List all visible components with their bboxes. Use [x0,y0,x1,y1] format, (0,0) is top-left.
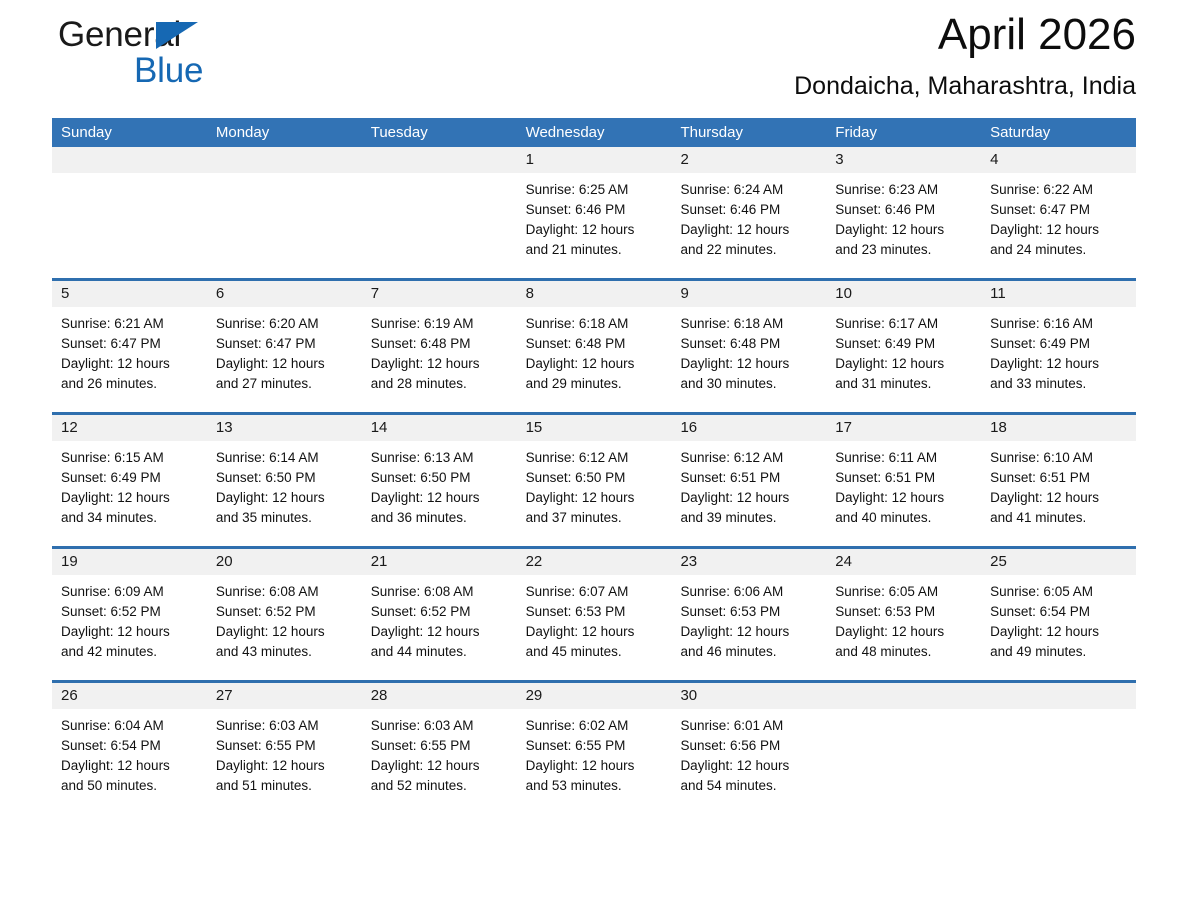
sunrise-line: Sunrise: 6:17 AM [835,314,972,334]
day-details: Sunrise: 6:21 AMSunset: 6:47 PMDaylight:… [52,307,207,394]
sunrise-line: Sunrise: 6:12 AM [680,448,817,468]
daylight-line-1: Daylight: 12 hours [990,622,1127,642]
day-cell-22[interactable]: 22Sunrise: 6:07 AMSunset: 6:53 PMDayligh… [517,549,672,680]
daylight-line-2: and 35 minutes. [216,508,353,528]
sunset-line: Sunset: 6:47 PM [990,200,1127,220]
sunrise-line: Sunrise: 6:15 AM [61,448,198,468]
day-details: Sunrise: 6:25 AMSunset: 6:46 PMDaylight:… [517,173,672,260]
day-cell-19[interactable]: 19Sunrise: 6:09 AMSunset: 6:52 PMDayligh… [52,549,207,680]
sunset-line: Sunset: 6:48 PM [371,334,508,354]
day-cell-25[interactable]: 25Sunrise: 6:05 AMSunset: 6:54 PMDayligh… [981,549,1136,680]
sunset-line: Sunset: 6:47 PM [61,334,198,354]
sunrise-line: Sunrise: 6:05 AM [990,582,1127,602]
day-cell-23[interactable]: 23Sunrise: 6:06 AMSunset: 6:53 PMDayligh… [671,549,826,680]
sunset-line: Sunset: 6:46 PM [680,200,817,220]
sunrise-line: Sunrise: 6:16 AM [990,314,1127,334]
daylight-line-1: Daylight: 12 hours [371,354,508,374]
day-number: 11 [981,281,1136,307]
day-details: Sunrise: 6:20 AMSunset: 6:47 PMDaylight:… [207,307,362,394]
sunrise-line: Sunrise: 6:18 AM [680,314,817,334]
daylight-line-2: and 43 minutes. [216,642,353,662]
daylight-line-2: and 46 minutes. [680,642,817,662]
logo-text-blue: Blue [134,52,318,90]
day-details: Sunrise: 6:07 AMSunset: 6:53 PMDaylight:… [517,575,672,662]
weekday-header-sunday: Sunday [52,118,207,147]
day-number: 30 [671,683,826,709]
sunset-line: Sunset: 6:48 PM [526,334,663,354]
day-number: 21 [362,549,517,575]
daylight-line-1: Daylight: 12 hours [680,354,817,374]
calendar-week-row: 5Sunrise: 6:21 AMSunset: 6:47 PMDaylight… [52,278,1136,412]
sunset-line: Sunset: 6:49 PM [61,468,198,488]
day-number [52,147,207,173]
day-cell-11[interactable]: 11Sunrise: 6:16 AMSunset: 6:49 PMDayligh… [981,281,1136,412]
sunrise-line: Sunrise: 6:21 AM [61,314,198,334]
daylight-line-1: Daylight: 12 hours [216,622,353,642]
daylight-line-1: Daylight: 12 hours [526,488,663,508]
daylight-line-1: Daylight: 12 hours [680,220,817,240]
daylight-line-1: Daylight: 12 hours [990,488,1127,508]
sunrise-line: Sunrise: 6:03 AM [216,716,353,736]
sunset-line: Sunset: 6:52 PM [371,602,508,622]
day-details: Sunrise: 6:02 AMSunset: 6:55 PMDaylight:… [517,709,672,796]
day-cell-4[interactable]: 4Sunrise: 6:22 AMSunset: 6:47 PMDaylight… [981,147,1136,278]
sunrise-line: Sunrise: 6:18 AM [526,314,663,334]
sunrise-line: Sunrise: 6:04 AM [61,716,198,736]
day-number: 23 [671,549,826,575]
day-details: Sunrise: 6:18 AMSunset: 6:48 PMDaylight:… [671,307,826,394]
daylight-line-2: and 22 minutes. [680,240,817,260]
calendar-week-row: 12Sunrise: 6:15 AMSunset: 6:49 PMDayligh… [52,412,1136,546]
sunrise-line: Sunrise: 6:09 AM [61,582,198,602]
day-details: Sunrise: 6:14 AMSunset: 6:50 PMDaylight:… [207,441,362,528]
day-details: Sunrise: 6:19 AMSunset: 6:48 PMDaylight:… [362,307,517,394]
sunset-line: Sunset: 6:52 PM [61,602,198,622]
day-number: 7 [362,281,517,307]
daylight-line-1: Daylight: 12 hours [216,354,353,374]
day-details: Sunrise: 6:16 AMSunset: 6:49 PMDaylight:… [981,307,1136,394]
calendar-week-row: 19Sunrise: 6:09 AMSunset: 6:52 PMDayligh… [52,546,1136,680]
weekday-header-tuesday: Tuesday [362,118,517,147]
day-number: 2 [671,147,826,173]
day-cell-17[interactable]: 17Sunrise: 6:11 AMSunset: 6:51 PMDayligh… [826,415,981,546]
daylight-line-2: and 52 minutes. [371,776,508,796]
day-number: 20 [207,549,362,575]
daylight-line-2: and 51 minutes. [216,776,353,796]
daylight-line-2: and 29 minutes. [526,374,663,394]
sunrise-line: Sunrise: 6:24 AM [680,180,817,200]
day-cell-30[interactable]: 30Sunrise: 6:01 AMSunset: 6:56 PMDayligh… [671,683,826,814]
day-details: Sunrise: 6:06 AMSunset: 6:53 PMDaylight:… [671,575,826,662]
day-number: 10 [826,281,981,307]
daylight-line-2: and 54 minutes. [680,776,817,796]
day-number: 17 [826,415,981,441]
sunrise-line: Sunrise: 6:03 AM [371,716,508,736]
day-number: 5 [52,281,207,307]
day-cell-16[interactable]: 16Sunrise: 6:12 AMSunset: 6:51 PMDayligh… [671,415,826,546]
day-details: Sunrise: 6:12 AMSunset: 6:50 PMDaylight:… [517,441,672,528]
day-cell-3[interactable]: 3Sunrise: 6:23 AMSunset: 6:46 PMDaylight… [826,147,981,278]
day-number [207,147,362,173]
daylight-line-1: Daylight: 12 hours [526,756,663,776]
daylight-line-1: Daylight: 12 hours [61,354,198,374]
sunrise-line: Sunrise: 6:14 AM [216,448,353,468]
sunrise-line: Sunrise: 6:08 AM [371,582,508,602]
day-number: 16 [671,415,826,441]
daylight-line-1: Daylight: 12 hours [835,622,972,642]
sunset-line: Sunset: 6:55 PM [216,736,353,756]
sunset-line: Sunset: 6:46 PM [835,200,972,220]
day-number: 22 [517,549,672,575]
day-details [362,173,517,180]
day-cell-6[interactable]: 6Sunrise: 6:20 AMSunset: 6:47 PMDaylight… [207,281,362,412]
day-number: 15 [517,415,672,441]
day-details: Sunrise: 6:23 AMSunset: 6:46 PMDaylight:… [826,173,981,260]
day-details: Sunrise: 6:15 AMSunset: 6:49 PMDaylight:… [52,441,207,528]
day-details [981,709,1136,716]
calendar-page: General Blue April 2026 Dondaicha, Mahar… [0,0,1188,918]
daylight-line-1: Daylight: 12 hours [216,488,353,508]
sunset-line: Sunset: 6:53 PM [680,602,817,622]
day-number: 28 [362,683,517,709]
weekday-header-row: SundayMondayTuesdayWednesdayThursdayFrid… [52,118,1136,147]
day-cell-15[interactable]: 15Sunrise: 6:12 AMSunset: 6:50 PMDayligh… [517,415,672,546]
daylight-line-1: Daylight: 12 hours [526,354,663,374]
day-number: 9 [671,281,826,307]
location-subtitle: Dondaicha, Maharashtra, India [794,70,1136,102]
day-details: Sunrise: 6:12 AMSunset: 6:51 PMDaylight:… [671,441,826,528]
weekday-header-friday: Friday [826,118,981,147]
sunset-line: Sunset: 6:53 PM [526,602,663,622]
sunset-line: Sunset: 6:47 PM [216,334,353,354]
day-number: 13 [207,415,362,441]
day-details: Sunrise: 6:08 AMSunset: 6:52 PMDaylight:… [207,575,362,662]
day-number: 3 [826,147,981,173]
daylight-line-2: and 53 minutes. [526,776,663,796]
day-cell-29[interactable]: 29Sunrise: 6:02 AMSunset: 6:55 PMDayligh… [517,683,672,814]
day-number: 26 [52,683,207,709]
generalblue-logo[interactable]: General Blue [58,16,318,106]
daylight-line-1: Daylight: 12 hours [371,756,508,776]
daylight-line-2: and 42 minutes. [61,642,198,662]
daylight-line-1: Daylight: 12 hours [371,622,508,642]
sunset-line: Sunset: 6:54 PM [990,602,1127,622]
sunrise-line: Sunrise: 6:23 AM [835,180,972,200]
sunset-line: Sunset: 6:51 PM [835,468,972,488]
daylight-line-2: and 30 minutes. [680,374,817,394]
sunrise-line: Sunrise: 6:25 AM [526,180,663,200]
day-details: Sunrise: 6:24 AMSunset: 6:46 PMDaylight:… [671,173,826,260]
daylight-line-2: and 33 minutes. [990,374,1127,394]
day-number: 18 [981,415,1136,441]
daylight-line-2: and 45 minutes. [526,642,663,662]
sunset-line: Sunset: 6:55 PM [526,736,663,756]
day-details: Sunrise: 6:11 AMSunset: 6:51 PMDaylight:… [826,441,981,528]
day-details: Sunrise: 6:05 AMSunset: 6:54 PMDaylight:… [981,575,1136,662]
daylight-line-2: and 36 minutes. [371,508,508,528]
day-details: Sunrise: 6:08 AMSunset: 6:52 PMDaylight:… [362,575,517,662]
sunrise-line: Sunrise: 6:05 AM [835,582,972,602]
daylight-line-2: and 48 minutes. [835,642,972,662]
sunrise-line: Sunrise: 6:19 AM [371,314,508,334]
sunrise-line: Sunrise: 6:22 AM [990,180,1127,200]
sunset-line: Sunset: 6:49 PM [990,334,1127,354]
day-details: Sunrise: 6:18 AMSunset: 6:48 PMDaylight:… [517,307,672,394]
daylight-line-2: and 31 minutes. [835,374,972,394]
day-number: 25 [981,549,1136,575]
day-details: Sunrise: 6:01 AMSunset: 6:56 PMDaylight:… [671,709,826,796]
sunset-line: Sunset: 6:50 PM [371,468,508,488]
day-number: 27 [207,683,362,709]
daylight-line-2: and 21 minutes. [526,240,663,260]
calendar-body: 1Sunrise: 6:25 AMSunset: 6:46 PMDaylight… [52,147,1136,814]
sunset-line: Sunset: 6:56 PM [680,736,817,756]
daylight-line-1: Daylight: 12 hours [526,220,663,240]
title-block: April 2026 Dondaicha, Maharashtra, India [794,8,1136,102]
weekday-header-wednesday: Wednesday [517,118,672,147]
day-number: 1 [517,147,672,173]
weekday-header-saturday: Saturday [981,118,1136,147]
day-number: 12 [52,415,207,441]
sunrise-line: Sunrise: 6:11 AM [835,448,972,468]
day-cell-24[interactable]: 24Sunrise: 6:05 AMSunset: 6:53 PMDayligh… [826,549,981,680]
sunrise-line: Sunrise: 6:06 AM [680,582,817,602]
day-cell-empty [826,683,981,814]
day-number [981,683,1136,709]
day-cell-empty [362,147,517,278]
sunset-line: Sunset: 6:50 PM [526,468,663,488]
daylight-line-2: and 41 minutes. [990,508,1127,528]
day-number: 24 [826,549,981,575]
day-cell-2[interactable]: 2Sunrise: 6:24 AMSunset: 6:46 PMDaylight… [671,147,826,278]
day-cell-8[interactable]: 8Sunrise: 6:18 AMSunset: 6:48 PMDaylight… [517,281,672,412]
day-number: 4 [981,147,1136,173]
daylight-line-2: and 44 minutes. [371,642,508,662]
sunrise-line: Sunrise: 6:20 AM [216,314,353,334]
sunset-line: Sunset: 6:51 PM [680,468,817,488]
day-cell-empty [207,147,362,278]
day-cell-20[interactable]: 20Sunrise: 6:08 AMSunset: 6:52 PMDayligh… [207,549,362,680]
day-number: 6 [207,281,362,307]
calendar-week-row: 26Sunrise: 6:04 AMSunset: 6:54 PMDayligh… [52,680,1136,814]
calendar-table: SundayMondayTuesdayWednesdayThursdayFrid… [52,118,1136,814]
daylight-line-2: and 40 minutes. [835,508,972,528]
day-number [826,683,981,709]
day-cell-empty [52,147,207,278]
daylight-line-1: Daylight: 12 hours [680,488,817,508]
daylight-line-1: Daylight: 12 hours [216,756,353,776]
day-details: Sunrise: 6:09 AMSunset: 6:52 PMDaylight:… [52,575,207,662]
day-cell-14[interactable]: 14Sunrise: 6:13 AMSunset: 6:50 PMDayligh… [362,415,517,546]
daylight-line-1: Daylight: 12 hours [371,488,508,508]
sunrise-line: Sunrise: 6:10 AM [990,448,1127,468]
sunset-line: Sunset: 6:46 PM [526,200,663,220]
sunrise-line: Sunrise: 6:08 AM [216,582,353,602]
daylight-line-1: Daylight: 12 hours [61,756,198,776]
day-cell-28[interactable]: 28Sunrise: 6:03 AMSunset: 6:55 PMDayligh… [362,683,517,814]
day-number: 19 [52,549,207,575]
sunset-line: Sunset: 6:55 PM [371,736,508,756]
daylight-line-2: and 37 minutes. [526,508,663,528]
day-details: Sunrise: 6:17 AMSunset: 6:49 PMDaylight:… [826,307,981,394]
weekday-header-monday: Monday [207,118,362,147]
daylight-line-2: and 24 minutes. [990,240,1127,260]
sunset-line: Sunset: 6:54 PM [61,736,198,756]
day-number: 29 [517,683,672,709]
day-cell-empty [981,683,1136,814]
day-cell-27[interactable]: 27Sunrise: 6:03 AMSunset: 6:55 PMDayligh… [207,683,362,814]
calendar-week-row: 1Sunrise: 6:25 AMSunset: 6:46 PMDaylight… [52,147,1136,278]
sunset-line: Sunset: 6:52 PM [216,602,353,622]
logo-triangle-icon [156,22,198,49]
daylight-line-1: Daylight: 12 hours [61,622,198,642]
day-details: Sunrise: 6:03 AMSunset: 6:55 PMDaylight:… [207,709,362,796]
day-details: Sunrise: 6:04 AMSunset: 6:54 PMDaylight:… [52,709,207,796]
day-number [362,147,517,173]
sunset-line: Sunset: 6:50 PM [216,468,353,488]
daylight-line-1: Daylight: 12 hours [680,756,817,776]
sunrise-line: Sunrise: 6:02 AM [526,716,663,736]
day-number: 8 [517,281,672,307]
page-title: April 2026 [794,8,1136,62]
day-cell-18[interactable]: 18Sunrise: 6:10 AMSunset: 6:51 PMDayligh… [981,415,1136,546]
day-cell-26[interactable]: 26Sunrise: 6:04 AMSunset: 6:54 PMDayligh… [52,683,207,814]
day-details: Sunrise: 6:13 AMSunset: 6:50 PMDaylight:… [362,441,517,528]
weekday-header-thursday: Thursday [671,118,826,147]
sunrise-line: Sunrise: 6:07 AM [526,582,663,602]
day-cell-5[interactable]: 5Sunrise: 6:21 AMSunset: 6:47 PMDaylight… [52,281,207,412]
daylight-line-2: and 49 minutes. [990,642,1127,662]
day-cell-10[interactable]: 10Sunrise: 6:17 AMSunset: 6:49 PMDayligh… [826,281,981,412]
sunrise-line: Sunrise: 6:13 AM [371,448,508,468]
daylight-line-2: and 50 minutes. [61,776,198,796]
daylight-line-1: Daylight: 12 hours [680,622,817,642]
daylight-line-2: and 28 minutes. [371,374,508,394]
sunset-line: Sunset: 6:53 PM [835,602,972,622]
day-cell-7[interactable]: 7Sunrise: 6:19 AMSunset: 6:48 PMDaylight… [362,281,517,412]
daylight-line-1: Daylight: 12 hours [835,488,972,508]
daylight-line-1: Daylight: 12 hours [990,354,1127,374]
daylight-line-1: Daylight: 12 hours [526,622,663,642]
day-details: Sunrise: 6:10 AMSunset: 6:51 PMDaylight:… [981,441,1136,528]
sunrise-line: Sunrise: 6:12 AM [526,448,663,468]
day-details: Sunrise: 6:05 AMSunset: 6:53 PMDaylight:… [826,575,981,662]
daylight-line-2: and 34 minutes. [61,508,198,528]
day-cell-21[interactable]: 21Sunrise: 6:08 AMSunset: 6:52 PMDayligh… [362,549,517,680]
daylight-line-1: Daylight: 12 hours [835,354,972,374]
sunrise-line: Sunrise: 6:01 AM [680,716,817,736]
day-details: Sunrise: 6:22 AMSunset: 6:47 PMDaylight:… [981,173,1136,260]
daylight-line-2: and 23 minutes. [835,240,972,260]
day-cell-12[interactable]: 12Sunrise: 6:15 AMSunset: 6:49 PMDayligh… [52,415,207,546]
day-details [826,709,981,716]
day-cell-1[interactable]: 1Sunrise: 6:25 AMSunset: 6:46 PMDaylight… [517,147,672,278]
daylight-line-2: and 39 minutes. [680,508,817,528]
daylight-line-1: Daylight: 12 hours [835,220,972,240]
sunset-line: Sunset: 6:51 PM [990,468,1127,488]
daylight-line-2: and 27 minutes. [216,374,353,394]
day-cell-13[interactable]: 13Sunrise: 6:14 AMSunset: 6:50 PMDayligh… [207,415,362,546]
day-details [52,173,207,180]
day-details [207,173,362,180]
daylight-line-1: Daylight: 12 hours [990,220,1127,240]
day-number: 14 [362,415,517,441]
daylight-line-2: and 26 minutes. [61,374,198,394]
sunset-line: Sunset: 6:49 PM [835,334,972,354]
day-details: Sunrise: 6:03 AMSunset: 6:55 PMDaylight:… [362,709,517,796]
daylight-line-1: Daylight: 12 hours [61,488,198,508]
sunset-line: Sunset: 6:48 PM [680,334,817,354]
day-cell-9[interactable]: 9Sunrise: 6:18 AMSunset: 6:48 PMDaylight… [671,281,826,412]
page-header: General Blue April 2026 Dondaicha, Mahar… [52,0,1136,118]
